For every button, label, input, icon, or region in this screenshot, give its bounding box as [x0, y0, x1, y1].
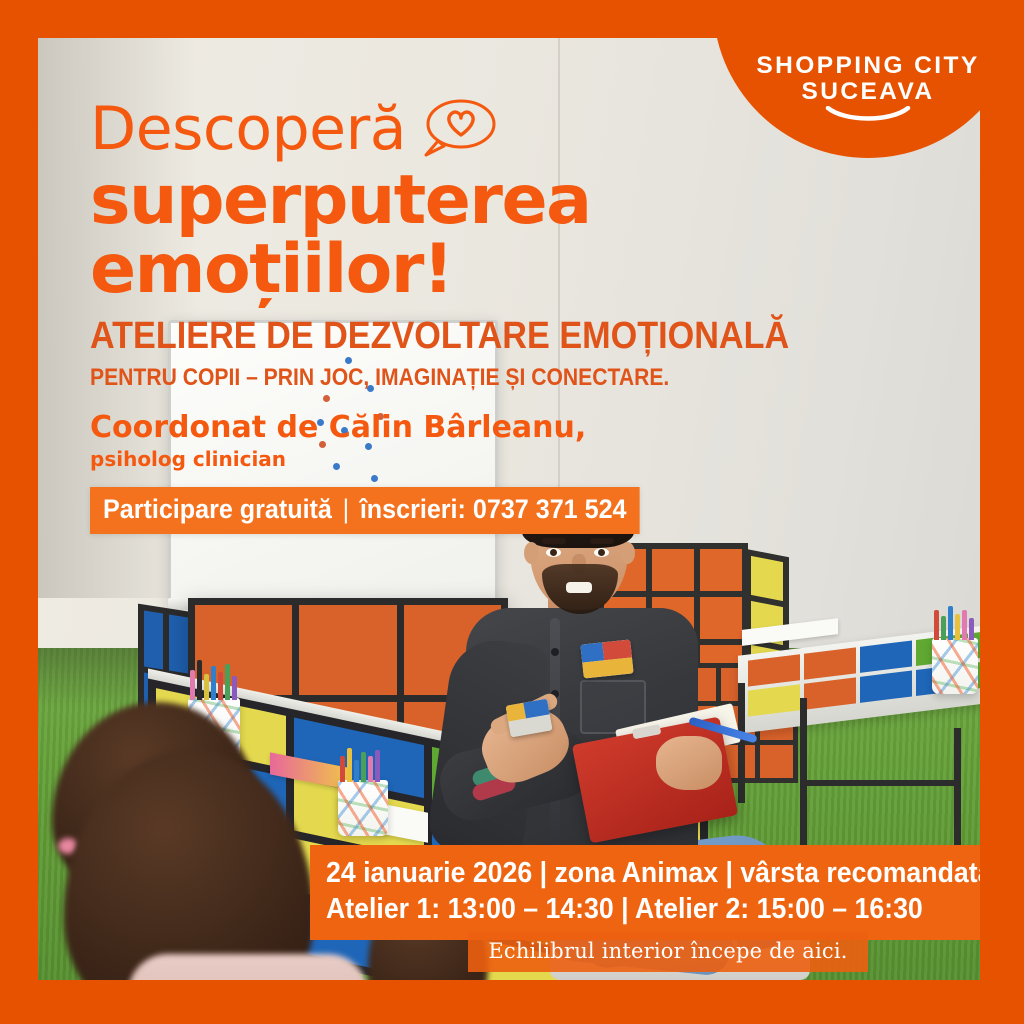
- free-participation-label: Participare gratuită: [103, 494, 332, 524]
- sticker-badge-chest: [580, 639, 633, 678]
- ear-right: [620, 542, 635, 564]
- table-leg: [800, 698, 807, 848]
- coordinator-title: psiholog clinician: [90, 447, 830, 471]
- coordinator-name: Coordonat de Călin Bârleanu,: [90, 410, 830, 445]
- hand-holding-clipboard: [656, 736, 722, 790]
- subheadline: ATELIERE DE DEZVOLTARE EMOȚIONALĂ: [90, 315, 756, 358]
- eye-left: [546, 548, 561, 557]
- poster-root: SHOPPING CITY SUCEAVA Descoperă superput…: [0, 0, 1024, 1024]
- phone-number[interactable]: 0737 371 524: [473, 494, 627, 524]
- registration-banner[interactable]: Participare gratuită | înscrieri: 0737 3…: [90, 487, 640, 534]
- mouth: [566, 582, 592, 593]
- tagline-banner: Echilibrul interior începe de aici.: [468, 932, 868, 972]
- headline-block: Descoperă superputerea emoțiilor! ATELIE…: [90, 94, 830, 534]
- logo-line-1: SHOPPING CITY: [756, 53, 979, 79]
- event-line-1: 24 ianuarie 2026 | zona Animax | vârsta …: [326, 855, 913, 891]
- photo-canvas: SHOPPING CITY SUCEAVA Descoperă superput…: [38, 38, 980, 980]
- eyebrow-left: [542, 538, 566, 544]
- discover-line: Descoperă: [90, 94, 830, 164]
- eyebrow-right: [590, 538, 614, 544]
- pencils-in-cup: [190, 656, 237, 700]
- pencil-cup: [932, 638, 978, 694]
- signup-label: înscrieri:: [360, 494, 466, 524]
- event-details-banner: 24 ianuarie 2026 | zona Animax | vârsta …: [310, 845, 980, 940]
- child-shoulder: [128, 954, 368, 980]
- pencil-cup: [338, 780, 388, 836]
- table-crossbar: [800, 780, 958, 786]
- event-line-2: Atelier 1: 13:00 – 14:30 | Atelier 2: 15…: [326, 891, 913, 927]
- headline-line-2: superputerea emoțiilor!: [90, 166, 830, 305]
- logo-line-2: SUCEAVA: [802, 79, 935, 105]
- ear-left: [524, 542, 539, 564]
- heart-speech-bubble-icon: [420, 97, 498, 161]
- subheadline-secondary: PENTRU COPII – PRIN JOC, IMAGINAȚIE ȘI C…: [90, 364, 741, 392]
- eye-right: [594, 548, 609, 557]
- pencils-in-cup: [340, 744, 380, 782]
- pencils-in-cup: [934, 602, 974, 640]
- tagline-text: Echilibrul interior începe de aici.: [488, 939, 847, 963]
- banner-separator: |: [339, 494, 353, 524]
- headline-line-1: Descoperă: [90, 94, 406, 164]
- smile-swoosh-icon: [825, 106, 911, 122]
- child-front-left: [64, 750, 314, 980]
